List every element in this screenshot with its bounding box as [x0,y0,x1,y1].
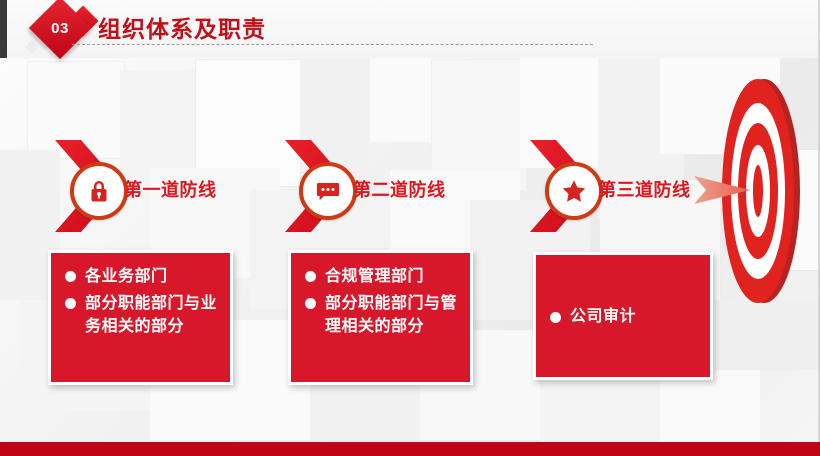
star-icon [545,162,603,220]
diamond-decor-icon [25,40,39,54]
list-item: 部分职能部门与业务相关的部分 [63,292,220,338]
bg-shape [370,58,470,142]
section-number-diamond-cluster: 03 [12,2,108,60]
page-title: 组织体系及职责 [98,10,266,44]
bg-shape [120,70,240,190]
defense-label-1: 第一道防线 [124,176,217,202]
bullet-dot-icon [65,271,76,282]
bottom-accent-bar [0,442,820,456]
defense-label-3: 第三道防线 [598,176,691,202]
speech-bubble-icon [299,162,357,220]
arrow-hit-icon [692,172,754,208]
slide-canvas: 03 组织体系及职责 第一道防线 各业务部门 [0,0,820,456]
defense-box-1: 各业务部门 部分职能部门与业务相关的部分 [48,250,233,385]
bg-shape [432,60,526,190]
bullet-dot-icon [65,298,76,309]
defense-box-3: 公司审计 [533,252,713,380]
list-item: 公司审计 [548,305,636,328]
list-item-label: 部分职能部门与业务相关的部分 [85,292,220,338]
list-item-label: 公司审计 [570,305,636,328]
list-item-label: 合规管理部门 [325,265,424,288]
bullet-dot-icon [305,298,316,309]
lock-icon [70,162,128,220]
left-edge-accent [0,0,7,58]
list-item: 各业务部门 [63,265,220,288]
defense-box-2: 合规管理部门 部分职能部门与管理相关的部分 [288,250,473,385]
bullet-dot-icon [550,312,561,323]
title-divider [72,44,593,45]
bullet-dot-icon [305,271,316,282]
list-item: 合规管理部门 [303,265,460,288]
list-item: 部分职能部门与管理相关的部分 [303,292,460,338]
list-item-label: 各业务部门 [85,265,168,288]
list-item-label: 部分职能部门与管理相关的部分 [325,292,460,338]
defense-label-2: 第二道防线 [353,176,446,202]
